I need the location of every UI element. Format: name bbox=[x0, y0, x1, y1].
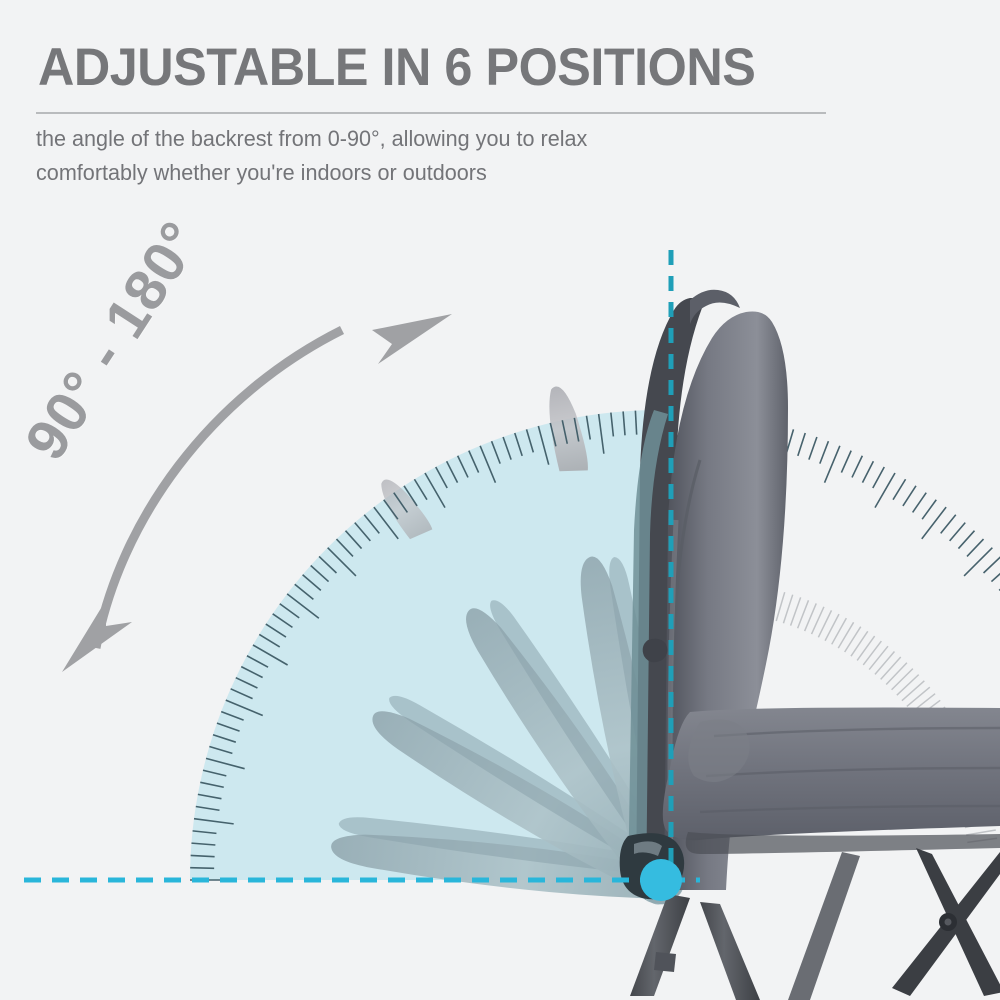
protractor-tick bbox=[984, 556, 1000, 573]
protractor-tick bbox=[922, 500, 936, 519]
protractor-tick bbox=[903, 486, 916, 506]
protractor-tick-faint bbox=[776, 592, 784, 621]
protractor-tick-faint bbox=[897, 675, 919, 696]
protractor-tick bbox=[809, 437, 817, 460]
protractor-tick bbox=[852, 456, 862, 478]
protractor-tick-faint bbox=[875, 652, 894, 675]
protractor-tick bbox=[190, 868, 214, 869]
protractor-tick-faint bbox=[863, 641, 881, 665]
protractor-tick-faint bbox=[881, 657, 901, 679]
protractor-tick bbox=[967, 539, 984, 556]
protractor-tick-faint bbox=[851, 631, 868, 656]
protractor-tick bbox=[893, 479, 906, 499]
protractor-tick-faint bbox=[892, 669, 913, 690]
protractor-tick-faint bbox=[783, 595, 792, 624]
protractor-tick-faint bbox=[845, 627, 861, 652]
protractor-tick bbox=[873, 467, 884, 488]
chair-leg-front bbox=[630, 894, 690, 996]
diagram-illustration bbox=[0, 0, 1000, 1000]
chair-leg-rear bbox=[700, 902, 760, 1000]
protractor-tick bbox=[964, 548, 992, 576]
arrow-head-icon bbox=[62, 600, 132, 672]
protractor-tick bbox=[825, 446, 840, 483]
arrow-head-icon bbox=[372, 314, 452, 364]
seat-front-lip bbox=[686, 832, 1000, 854]
protractor-tick bbox=[950, 523, 966, 541]
protractor-tick bbox=[922, 507, 946, 539]
protractor-tick bbox=[941, 515, 956, 534]
protractor-tick bbox=[798, 433, 805, 456]
protractor-tick bbox=[820, 441, 829, 463]
protractor-tick-faint bbox=[907, 687, 930, 706]
protractor-tick bbox=[958, 531, 974, 549]
protractor-tick bbox=[862, 461, 873, 482]
protractor-tick-faint bbox=[902, 681, 924, 701]
chair-leg-mid bbox=[788, 852, 860, 1000]
protractor-tick-faint bbox=[869, 646, 888, 669]
protractor-tick-faint bbox=[838, 622, 853, 648]
protractor-tick bbox=[841, 451, 851, 473]
protractor-tick bbox=[991, 566, 1000, 582]
protractor-tick-faint bbox=[832, 618, 847, 644]
protractor-tick-faint bbox=[886, 663, 907, 685]
protractor-tick-faint bbox=[857, 636, 874, 660]
protractor-tick bbox=[913, 493, 927, 513]
infographic-canvas: ADJUSTABLE IN 6 POSITIONS the angle of t… bbox=[0, 0, 1000, 1000]
chair-product bbox=[628, 290, 1000, 1000]
brace-pivot-bolt-center bbox=[945, 919, 952, 926]
leg-adjuster-collar bbox=[654, 952, 676, 972]
pivot-point-icon bbox=[640, 859, 682, 901]
protractor-tick-faint bbox=[791, 597, 801, 625]
